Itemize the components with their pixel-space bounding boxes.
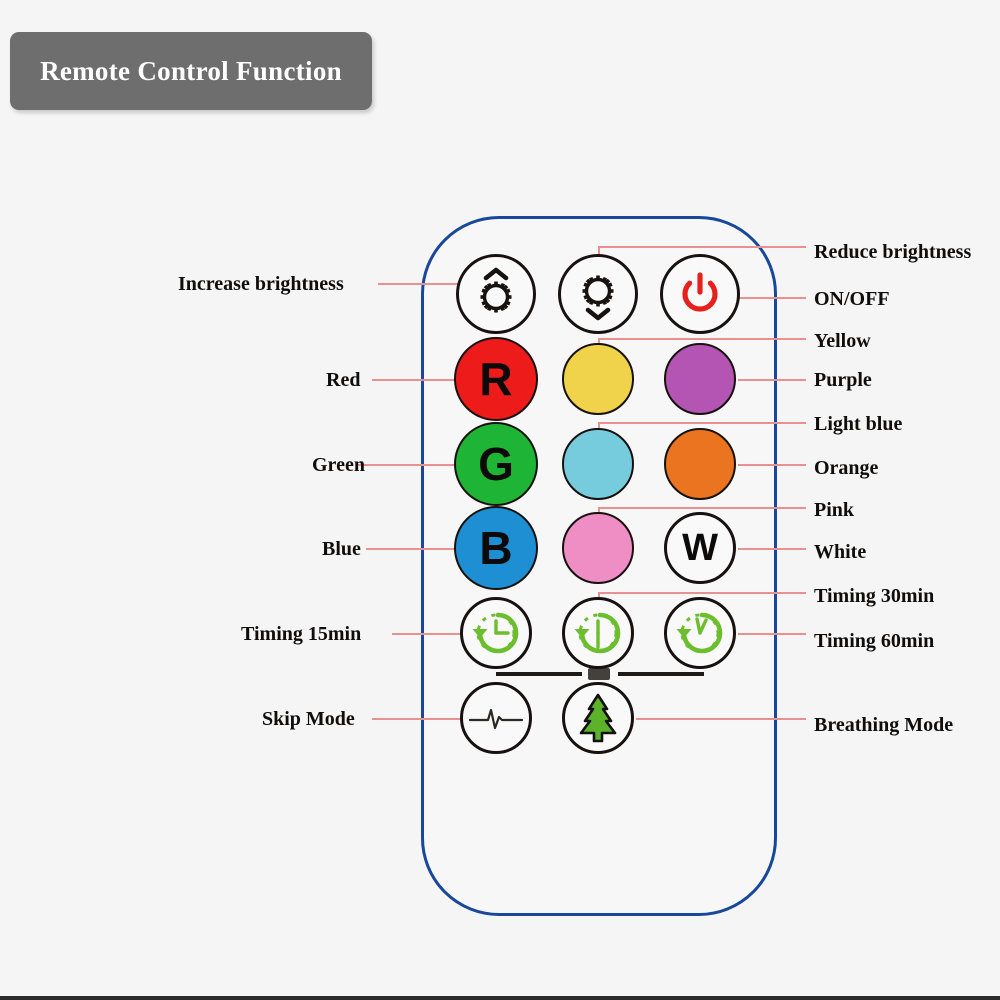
button-color-light-blue[interactable] <box>562 428 634 500</box>
button-reduce-brightness[interactable] <box>558 254 638 334</box>
sun-down-icon <box>570 266 626 322</box>
leader-pink <box>598 507 806 509</box>
button-timing-30min[interactable] <box>562 597 634 669</box>
letter-w-icon: W <box>682 529 718 567</box>
letter-b-icon: B <box>479 525 512 571</box>
label-timing-15min: Timing 15min <box>241 624 361 644</box>
button-timing-15min[interactable] <box>460 597 532 669</box>
label-orange: Orange <box>814 458 878 478</box>
leader-yellow <box>598 338 806 340</box>
label-blue: Blue <box>322 539 361 559</box>
button-color-pink[interactable] <box>562 512 634 584</box>
leader-orange <box>738 464 806 466</box>
label-yellow: Yellow <box>814 331 871 351</box>
letter-g-icon: G <box>478 441 514 487</box>
leader-breathing-mode <box>636 718 806 720</box>
power-icon <box>676 270 724 318</box>
label-breathing-mode: Breathing Mode <box>814 715 953 735</box>
clock-30-icon <box>570 605 626 661</box>
label-white: White <box>814 542 866 562</box>
button-skip-mode[interactable] <box>460 682 532 754</box>
label-timing-30min: Timing 30min <box>814 586 934 606</box>
button-power[interactable] <box>660 254 740 334</box>
leader-timing-60 <box>738 633 806 635</box>
label-on-off: ON/OFF <box>814 289 890 309</box>
clock-60-icon <box>672 605 728 661</box>
leader-purple <box>738 379 806 381</box>
letter-r-icon: R <box>479 356 512 402</box>
label-green: Green <box>312 455 365 475</box>
button-breathing-mode[interactable] <box>562 682 634 754</box>
pulse-wave-icon <box>468 702 524 734</box>
button-increase-brightness[interactable] <box>456 254 536 334</box>
button-color-green[interactable]: G <box>454 422 538 506</box>
clock-15-icon <box>468 605 524 661</box>
button-color-red[interactable]: R <box>454 337 538 421</box>
button-timing-60min[interactable] <box>664 597 736 669</box>
leader-reduce-brightness <box>598 246 806 248</box>
tree-icon <box>573 692 623 744</box>
label-light-blue: Light blue <box>814 414 902 434</box>
leader-white <box>738 548 806 550</box>
leader-timing-30 <box>598 592 806 594</box>
label-skip-mode: Skip Mode <box>262 709 355 729</box>
button-color-orange[interactable] <box>664 428 736 500</box>
connector-node <box>588 668 610 680</box>
button-color-purple[interactable] <box>664 343 736 415</box>
button-color-blue[interactable]: B <box>454 506 538 590</box>
page-title: Remote Control Function <box>40 56 342 87</box>
connector-bar-left <box>496 672 582 676</box>
button-color-white[interactable]: W <box>664 512 736 584</box>
bottom-rule <box>0 996 1000 1000</box>
remote-control-diagram: Remote Control Function <box>0 0 1000 1000</box>
label-purple: Purple <box>814 370 872 390</box>
label-red: Red <box>326 370 360 390</box>
label-timing-60min: Timing 60min <box>814 631 934 651</box>
leader-light-blue <box>598 422 806 424</box>
label-increase-brightness: Increase brightness <box>178 274 344 294</box>
label-pink: Pink <box>814 500 854 520</box>
button-color-yellow[interactable] <box>562 343 634 415</box>
sun-up-icon <box>468 266 524 322</box>
label-reduce-brightness: Reduce brightness <box>814 242 971 262</box>
title-banner: Remote Control Function <box>10 32 372 110</box>
connector-bar-right <box>618 672 704 676</box>
